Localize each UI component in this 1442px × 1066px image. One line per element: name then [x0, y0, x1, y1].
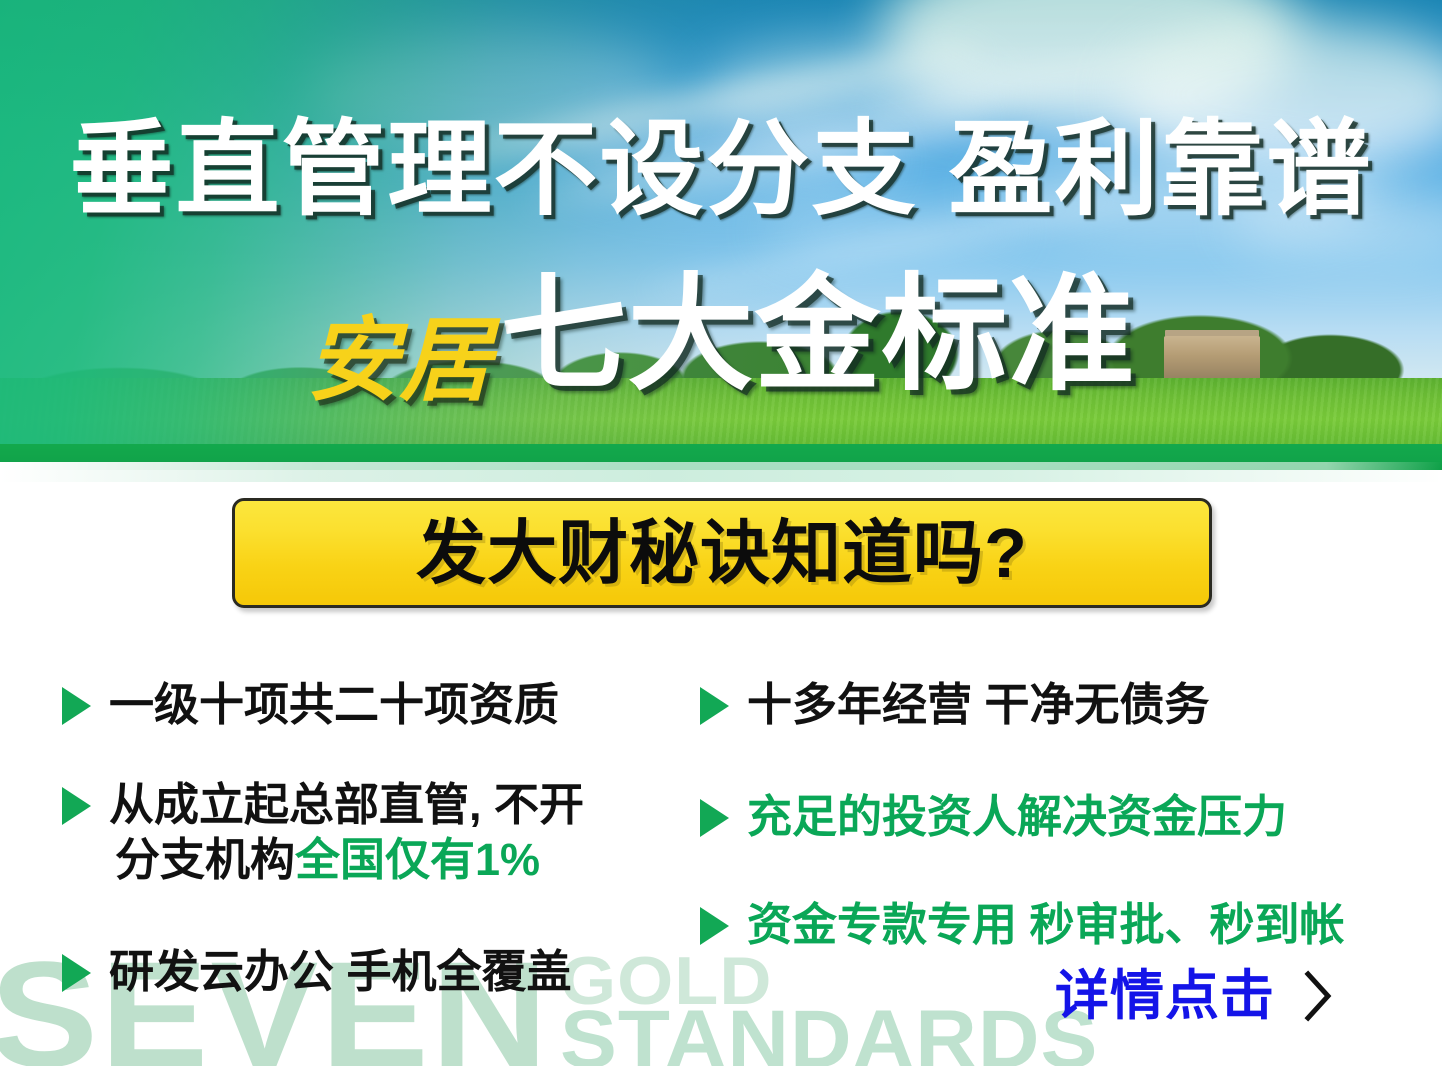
feature-label: 一级十项共二十项资质 — [109, 678, 559, 733]
feature-label-line1: 从成立起总部直管, 不开 — [109, 779, 584, 830]
feature-label: 资金专款专用 秒审批、秒到帐 — [747, 898, 1345, 953]
feature-label: 十多年经营 干净无债务 — [747, 678, 1210, 733]
hero-headline: 垂直管理不设分支 盈利靠谱 — [0, 118, 1442, 222]
hero-text-group: 垂直管理不设分支 盈利靠谱 安居七大金标准 — [0, 0, 1442, 470]
chevron-right-icon — [1301, 968, 1335, 1024]
feature-item: 一级十项共二十项资质 — [62, 678, 559, 733]
advertisement-page: 垂直管理不设分支 盈利靠谱 安居七大金标准 发大财秘诀知道吗? 一级十项共二十项… — [0, 0, 1442, 1066]
feature-label: 研发云办公 手机全覆盖 — [109, 945, 572, 1000]
cta-banner[interactable]: 发大财秘诀知道吗? — [232, 498, 1212, 608]
detail-link[interactable]: 详情点击 — [1055, 968, 1335, 1024]
triangle-right-icon — [700, 687, 729, 725]
triangle-right-icon — [62, 687, 91, 725]
feature-label-highlight: 全国仅有1% — [295, 834, 540, 885]
feature-item: 研发云办公 手机全覆盖 — [62, 945, 572, 1000]
feature-item: 资金专款专用 秒审批、秒到帐 — [700, 898, 1345, 953]
feature-list: 一级十项共二十项资质 从成立起总部直管, 不开 分支机构全国仅有1% 研发云办公… — [0, 660, 1442, 990]
triangle-right-icon — [700, 907, 729, 945]
triangle-right-icon — [700, 799, 729, 837]
feature-item: 十多年经营 干净无债务 — [700, 678, 1210, 733]
hero-banner: 垂直管理不设分支 盈利靠谱 安居七大金标准 — [0, 0, 1442, 470]
hero-subheadline: 七大金标准 — [501, 272, 1136, 398]
cta-banner-label: 发大财秘诀知道吗? — [416, 518, 1028, 588]
feature-label-multiline: 从成立起总部直管, 不开 分支机构全国仅有1% — [109, 778, 584, 888]
triangle-right-icon — [62, 787, 91, 825]
feature-item: 从成立起总部直管, 不开 分支机构全国仅有1% — [62, 778, 584, 888]
feature-label: 充足的投资人解决资金压力 — [747, 790, 1287, 845]
hero-brand-name: 安居 — [306, 314, 492, 406]
triangle-right-icon — [62, 954, 91, 992]
hero-subheadline-row: 安居七大金标准 — [0, 272, 1442, 398]
feature-label-line2-plain: 分支机构 — [115, 834, 295, 885]
watermark-standards: STANDARDS — [560, 999, 1098, 1066]
detail-link-label: 详情点击 — [1055, 969, 1275, 1023]
feature-label-line2: 分支机构全国仅有1% — [115, 833, 584, 888]
feature-item: 充足的投资人解决资金压力 — [700, 790, 1287, 845]
